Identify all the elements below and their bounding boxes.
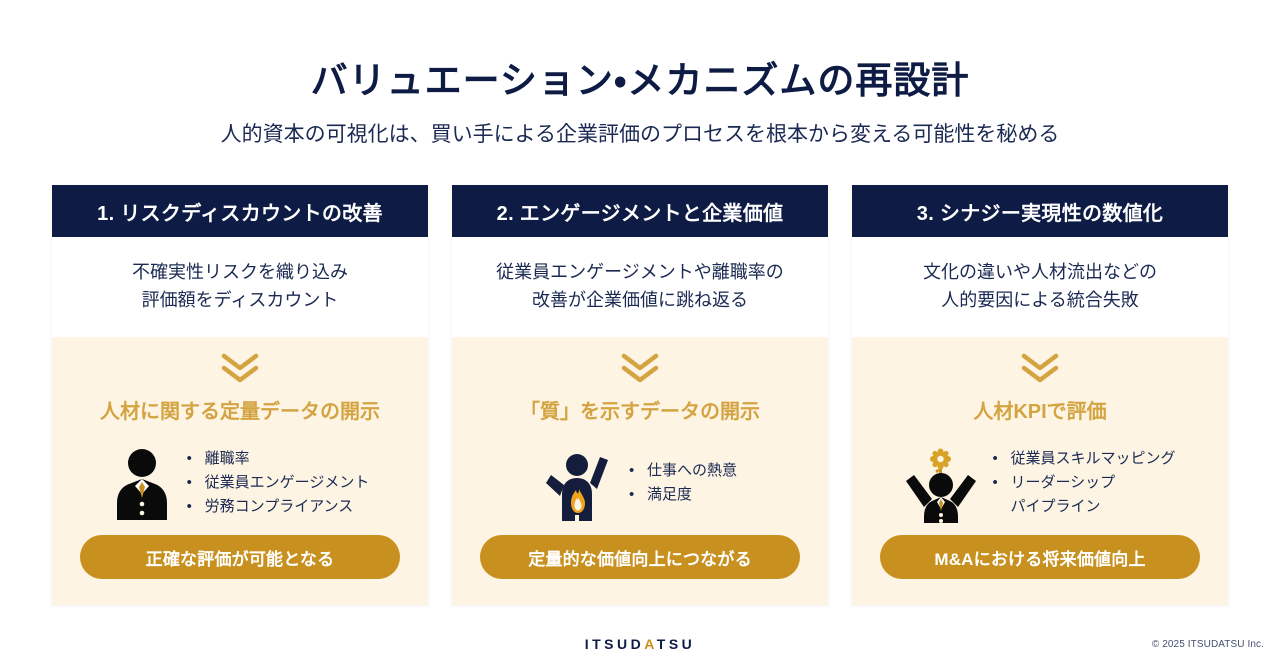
- card-gold-heading: 人材に関する定量データの開示: [52, 399, 428, 425]
- bullet-list: 従業員スキルマッピング リーダーシップ パイプライン: [992, 447, 1175, 520]
- list-item: 従業員エンゲージメント: [187, 471, 370, 495]
- card-description-line: 改善が企業価値に跳ね返る: [532, 287, 748, 315]
- card-description-line: 従業員エンゲージメントや離職率の: [496, 259, 784, 287]
- slide-root: バリュエーション・メカニズムの再設計 人的資本の可視化は、買い手による企業評価の…: [0, 0, 1280, 670]
- list-item: 満足度: [629, 483, 737, 507]
- card-gold-heading: 「質」を示すデータの開示: [452, 399, 828, 425]
- bullet-list: 離職率 従業員エンゲージメント 労務コンプライアンス: [187, 447, 370, 520]
- outcome-pill[interactable]: M&Aにおける将来価値向上: [880, 535, 1200, 579]
- card-header: 1. リスクディスカウントの改善: [52, 185, 428, 237]
- list-item: リーダーシップ: [992, 471, 1175, 495]
- double-chevron-down-icon: [852, 351, 1228, 385]
- brand-logo: ITSUDATSU: [0, 636, 1280, 652]
- card-description: 文化の違いや人材流出などの 人的要因による統合失敗: [852, 237, 1228, 337]
- outcome-pill[interactable]: 正確な評価が可能となる: [80, 535, 400, 579]
- bullet-list: 仕事への熱意 満足度: [629, 459, 737, 508]
- copyright-text: © 2025 ITSUDATSU Inc.: [1152, 639, 1264, 650]
- list-item: 離職率: [187, 447, 370, 471]
- card-gold-heading: 人材KPIで評価: [852, 399, 1228, 425]
- double-chevron-down-icon: [452, 351, 828, 385]
- card-synergy-quantification: 3. シナジー実現性の数値化 文化の違いや人材流出などの 人的要因による統合失敗…: [852, 185, 1228, 605]
- list-item-continuation: パイプライン: [992, 495, 1175, 519]
- card-risk-discount: 1. リスクディスカウントの改善 不確実性リスクを織り込み 評価額をディスカウン…: [52, 185, 428, 605]
- card-description-line: 人的要因による統合失敗: [941, 287, 1138, 315]
- card-description-line: 不確実性リスクを織り込み: [132, 259, 348, 287]
- businessman-suit-icon: [111, 446, 173, 520]
- card-icon-bullets: 離職率 従業員エンゲージメント 労務コンプライアンス: [52, 425, 428, 535]
- list-item: 労務コンプライアンス: [187, 495, 370, 519]
- page-subtitle: 人的資本の可視化は、買い手による企業評価のプロセスを根本から変える可能性を秘める: [0, 120, 1280, 149]
- person-raised-arms-flower-icon: [904, 443, 978, 523]
- logo-text-right: TSU: [657, 636, 696, 652]
- double-chevron-down-icon: [52, 351, 428, 385]
- card-description: 不確実性リスクを織り込み 評価額をディスカウント: [52, 237, 428, 337]
- card-group: 1. リスクディスカウントの改善 不確実性リスクを織り込み 評価額をディスカウン…: [52, 185, 1228, 605]
- logo-mountain-mark: A: [644, 636, 657, 652]
- page-title: バリュエーション・メカニズムの再設計: [0, 58, 1280, 104]
- card-description-line: 文化の違いや人材流出などの: [923, 259, 1157, 287]
- outcome-pill[interactable]: 定量的な価値向上につながる: [480, 535, 800, 579]
- card-engagement-value: 2. エンゲージメントと企業価値 従業員エンゲージメントや離職率の 改善が企業価…: [452, 185, 828, 605]
- card-description: 従業員エンゲージメントや離職率の 改善が企業価値に跳ね返る: [452, 237, 828, 337]
- card-icon-bullets: 従業員スキルマッピング リーダーシップ パイプライン: [852, 425, 1228, 535]
- card-header: 2. エンゲージメントと企業価値: [452, 185, 828, 237]
- card-description-line: 評価額をディスカウント: [142, 287, 339, 315]
- list-item: 従業員スキルマッピング: [992, 447, 1175, 471]
- person-raised-arms-flame-icon: [543, 445, 615, 521]
- list-item: 仕事への熱意: [629, 459, 737, 483]
- card-icon-bullets: 仕事への熱意 満足度: [452, 425, 828, 535]
- card-header: 3. シナジー実現性の数値化: [852, 185, 1228, 237]
- logo-text-left: ITSUD: [585, 636, 645, 652]
